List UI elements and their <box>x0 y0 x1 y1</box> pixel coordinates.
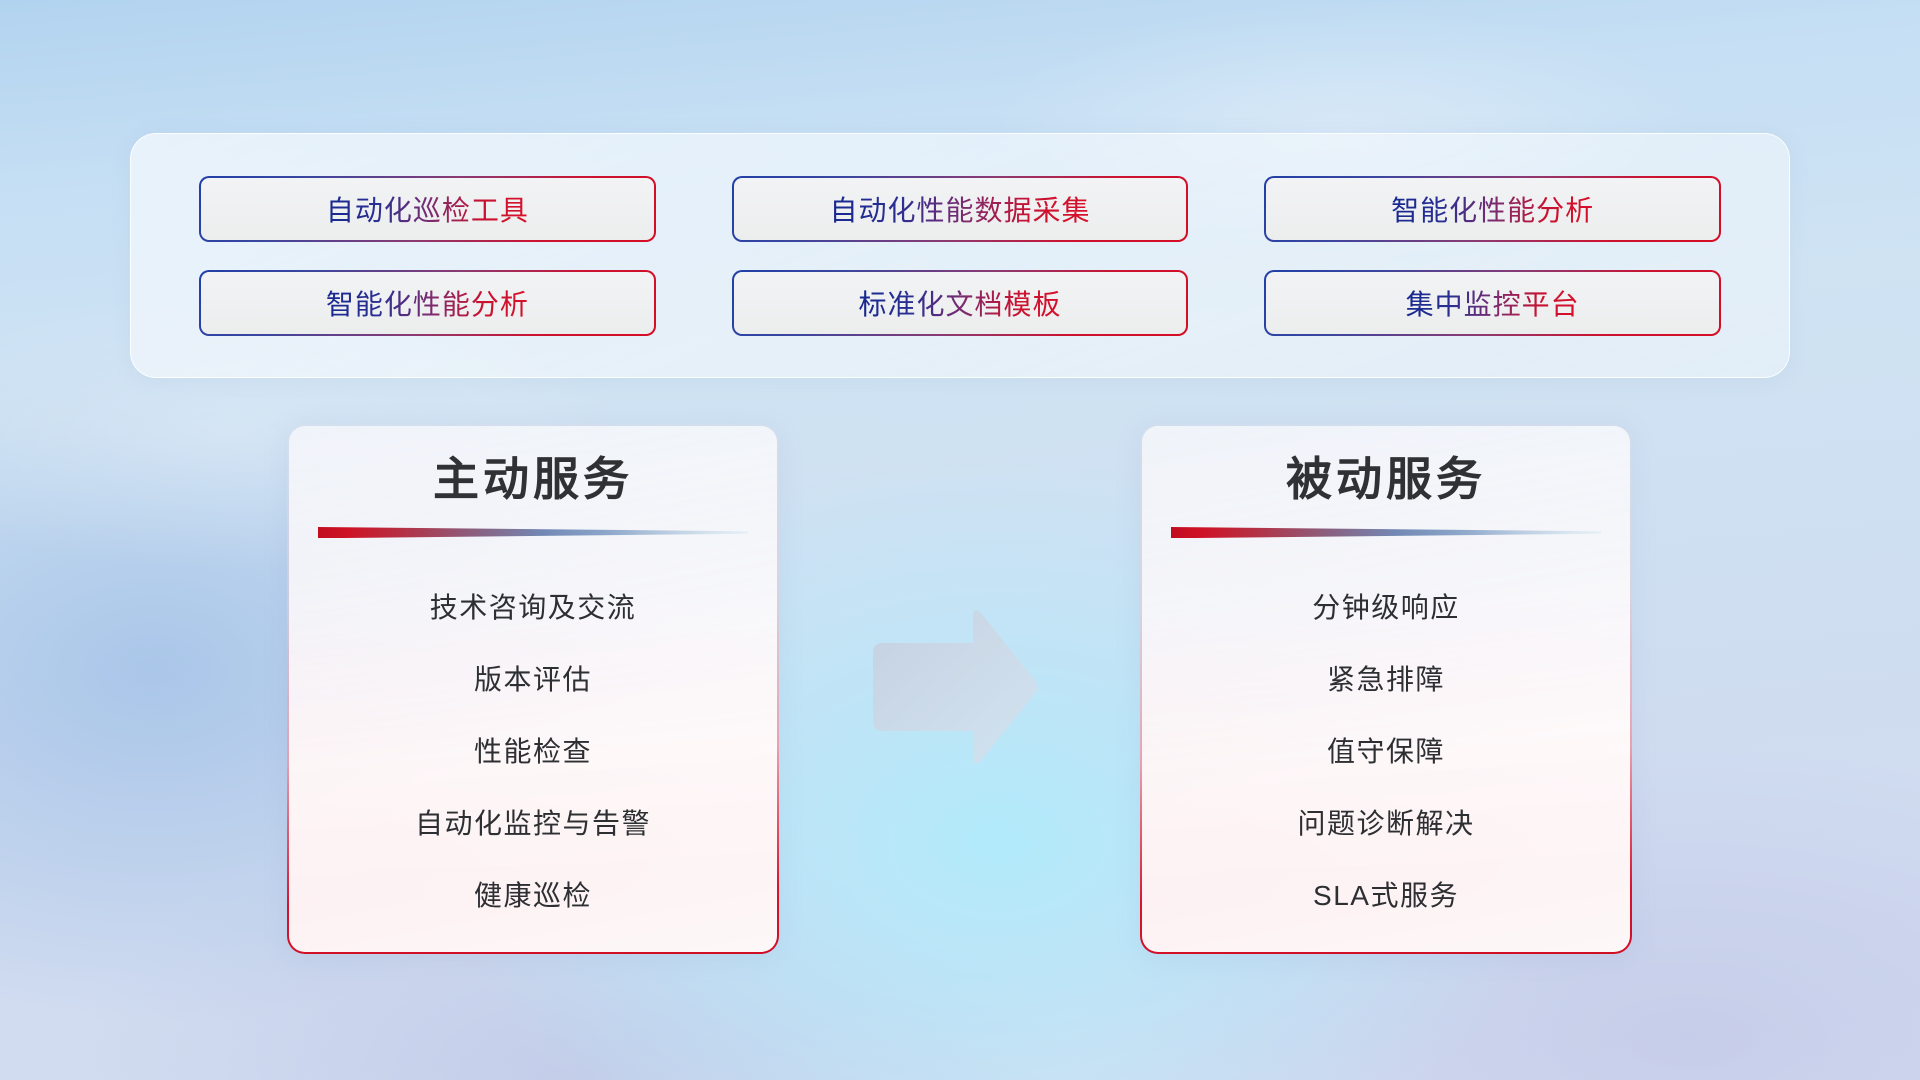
capability-panel: 自动化巡检工具 自动化性能数据采集 智能化性能分析 智能化性能分析 标准化文档模… <box>130 133 1790 378</box>
service-comparison-row: 主动服务 技术咨询及交流 版本评估 性能检查 自动化监控与告警 健康巡检 被动服… <box>0 424 1920 954</box>
list-item: 分钟级响应 <box>1312 572 1460 644</box>
chip-standardized-document-template[interactable]: 标准化文档模板 <box>732 270 1189 336</box>
card-item-list: 技术咨询及交流 版本评估 性能检查 自动化监控与告警 健康巡检 <box>289 572 777 932</box>
chip-label: 自动化巡检工具 <box>326 189 529 229</box>
card-title: 主动服务 <box>433 452 633 506</box>
list-item: 问题诊断解决 <box>1297 788 1474 860</box>
chip-label: 智能化性能分析 <box>326 283 529 323</box>
list-item: 健康巡检 <box>474 860 592 932</box>
card-proactive-service: 主动服务 技术咨询及交流 版本评估 性能检查 自动化监控与告警 健康巡检 <box>287 424 779 954</box>
arrow-right-icon <box>865 607 1043 769</box>
card-title: 被动服务 <box>1286 452 1486 506</box>
capability-row-2: 智能化性能分析 标准化文档模板 集中监控平台 <box>199 270 1721 336</box>
chip-label: 标准化文档模板 <box>859 283 1062 323</box>
list-item: 值守保障 <box>1327 716 1445 788</box>
list-item: SLA式服务 <box>1313 860 1459 932</box>
card-divider <box>318 526 748 538</box>
card-item-list: 分钟级响应 紧急排障 值守保障 问题诊断解决 SLA式服务 <box>1142 572 1630 932</box>
chip-intelligent-performance-analysis[interactable]: 智能化性能分析 <box>1264 176 1721 242</box>
card-reactive-service: 被动服务 分钟级响应 紧急排障 值守保障 问题诊断解决 SLA式服务 <box>1140 424 1632 954</box>
capability-row-1: 自动化巡检工具 自动化性能数据采集 智能化性能分析 <box>199 176 1721 242</box>
list-item: 紧急排障 <box>1327 644 1445 716</box>
chip-intelligent-performance-analysis-2[interactable]: 智能化性能分析 <box>199 270 656 336</box>
chip-label: 集中监控平台 <box>1406 283 1580 323</box>
chip-automated-performance-data-collection[interactable]: 自动化性能数据采集 <box>732 176 1189 242</box>
chip-label: 智能化性能分析 <box>1391 189 1594 229</box>
card-divider <box>1171 526 1601 538</box>
list-item: 版本评估 <box>474 644 592 716</box>
list-item: 性能检查 <box>474 716 592 788</box>
chip-centralized-monitoring-platform[interactable]: 集中监控平台 <box>1264 270 1721 336</box>
chip-automated-inspection-tool[interactable]: 自动化巡检工具 <box>199 176 656 242</box>
list-item: 自动化监控与告警 <box>415 788 651 860</box>
chip-label: 自动化性能数据采集 <box>830 189 1091 229</box>
list-item: 技术咨询及交流 <box>430 572 637 644</box>
